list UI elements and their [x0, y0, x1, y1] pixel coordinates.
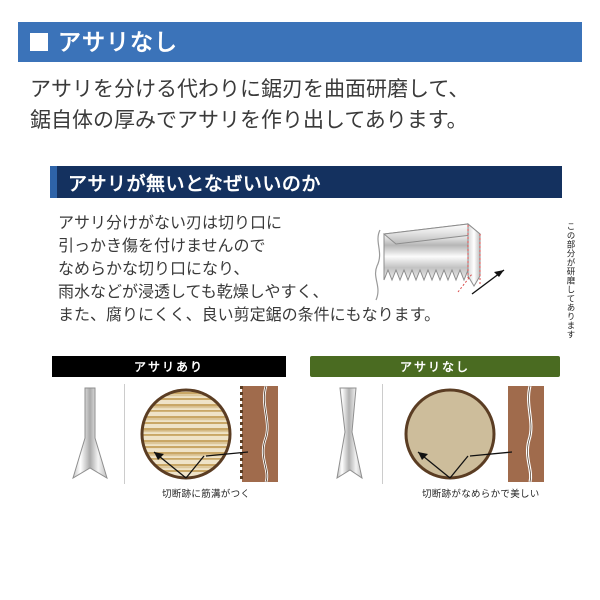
main-title-bar: アサリなし — [18, 22, 582, 62]
subheading-title: アサリが無いとなぜいいのか — [68, 169, 321, 196]
comparison-caption-right: 切断跡がなめらかで美しい — [422, 486, 540, 500]
intro-line-1: アサリを分ける代わりに鋸刃を曲面研磨して、 — [30, 74, 560, 105]
filled-square-icon — [30, 33, 48, 51]
panel-divider-left — [124, 384, 125, 484]
panel-divider-right — [382, 384, 383, 484]
subheading-bar: アサリが無いとなぜいいのか — [50, 166, 562, 198]
saw-blade-3d-icon — [368, 212, 508, 317]
subheading-accent-bar — [50, 166, 57, 198]
page-title: アサリなし — [58, 31, 178, 54]
comparison-panel-with-set: 切断跡に筋溝がつく — [52, 382, 286, 502]
comparison-label-with-set: アサリあり — [52, 356, 286, 377]
flared-blade-icon — [66, 386, 114, 487]
comparison-label-right-text: アサリなし — [400, 358, 470, 375]
intro-paragraph: アサリを分ける代わりに鋸刃を曲面研磨して、 鋸自体の厚みでアサリを作り出してあり… — [30, 74, 560, 136]
comparison-label-left-text: アサリあり — [134, 358, 204, 375]
comparison-caption-left: 切断跡に筋溝がつく — [162, 486, 250, 500]
blade-polish-caption: この部分が研磨してあります — [518, 222, 576, 318]
caption-leader-lines-right — [416, 450, 536, 484]
intro-line-2: 鋸自体の厚みでアサリを作り出してあります。 — [30, 105, 560, 136]
straight-blade-icon — [326, 386, 374, 487]
product-info-graphic: アサリなし アサリを分ける代わりに鋸刃を曲面研磨して、 鋸自体の厚みでアサリを作… — [0, 0, 600, 600]
caption-leader-lines-left — [152, 450, 272, 484]
comparison-label-without-set: アサリなし — [310, 356, 560, 377]
comparison-panel-without-set: 切断跡がなめらかで美しい — [310, 382, 560, 502]
